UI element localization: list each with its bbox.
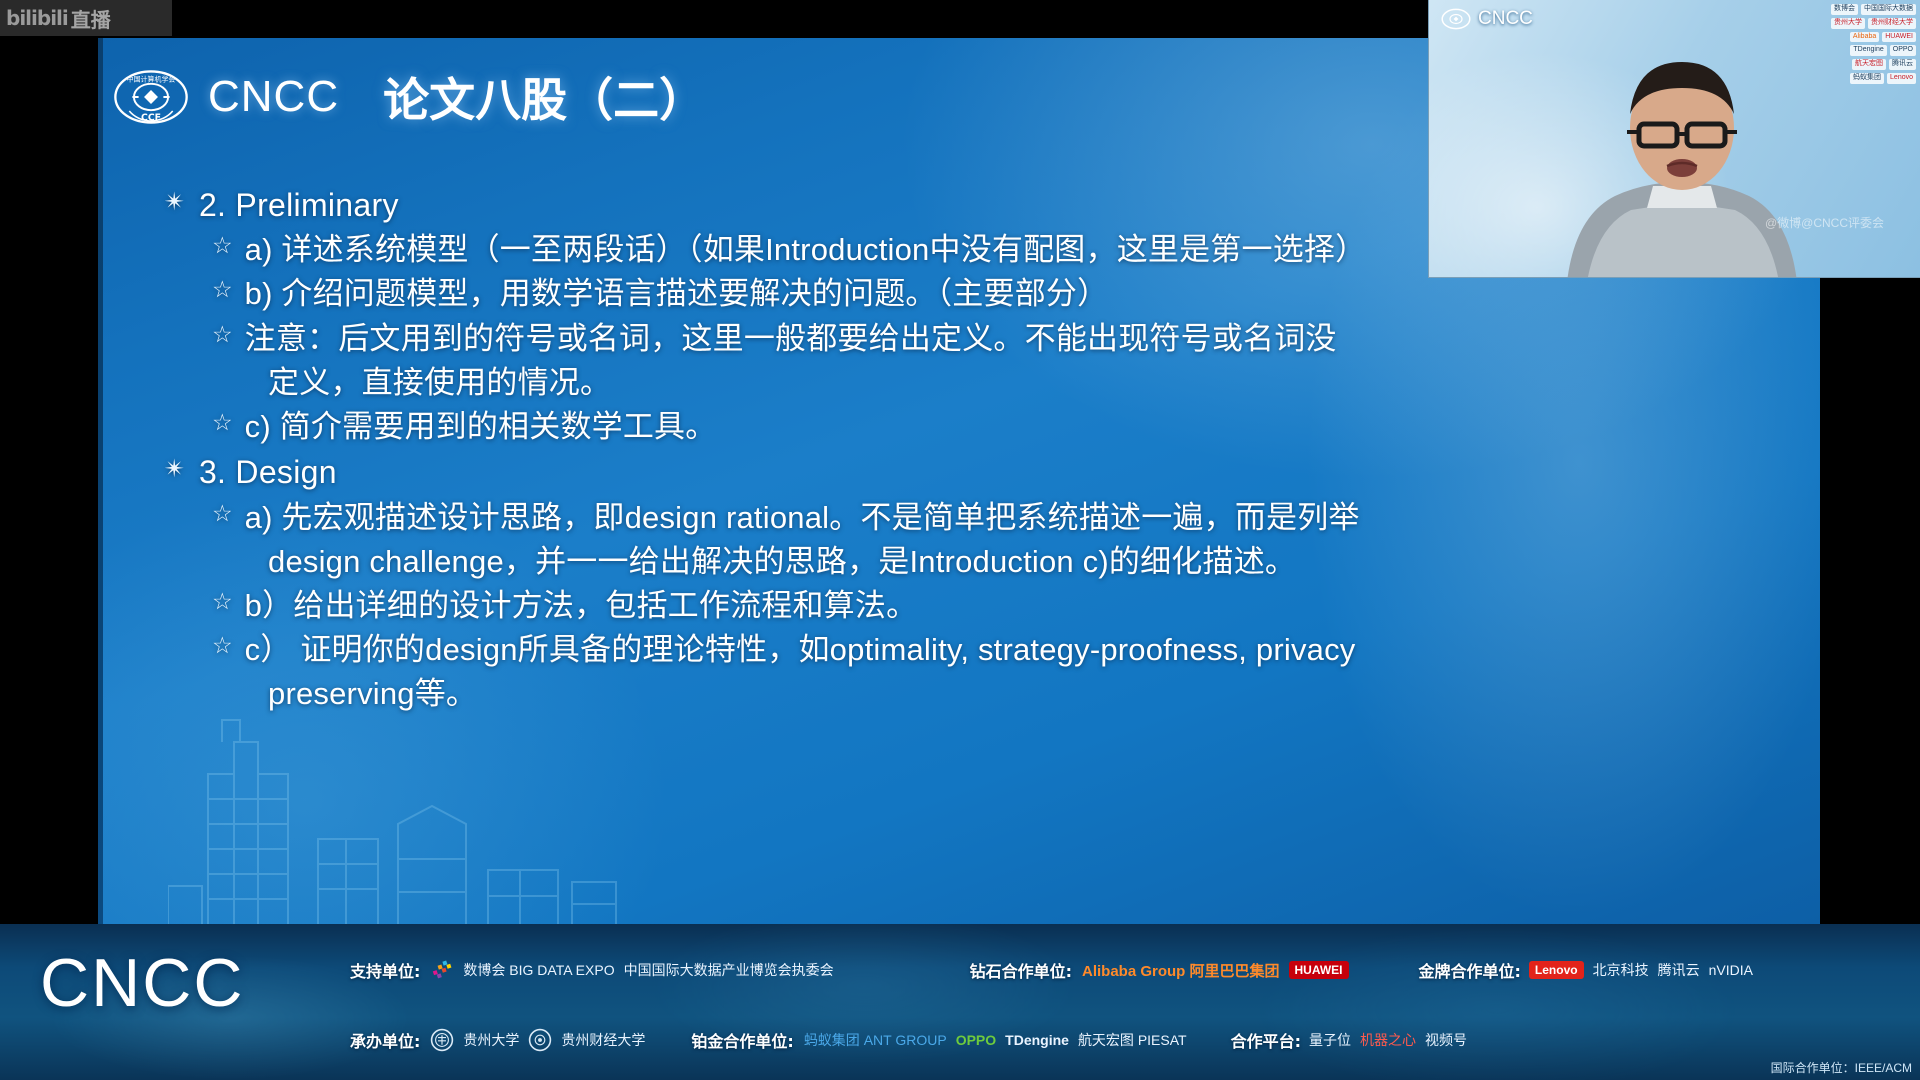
star-bullet-icon: ☆	[212, 497, 233, 530]
footer-label: 铂金合作单位:	[691, 1028, 793, 1052]
star-bullet-icon: ☆	[212, 585, 233, 618]
list-item-text: b）给出详细的设计方法，包括工作流程和算法。	[245, 585, 918, 626]
list-item: ☆ 注意：后文用到的符号或名词，这里一般都要给出定义。不能出现符号或名词没	[212, 318, 1802, 359]
list-item-continuation: preserving等。	[268, 673, 1802, 714]
footer-label: 支持单位:	[350, 958, 420, 982]
footer-group: Alibaba Group 阿里巴巴集团 HUAWEI	[1082, 960, 1349, 981]
footer-brand-cncc: CNCC	[40, 944, 244, 1022]
list-item-continuation: design challenge，并一一给出解决的思路，是Introductio…	[268, 541, 1802, 582]
slide-left-edge	[98, 38, 103, 924]
sponsor-chip: 贵州财经大学	[1868, 18, 1916, 29]
sponsor-chip: 腾讯云	[1889, 59, 1916, 70]
footer-group: 数博会 BIG DATA EXPO 中国国际大数据产业博览会执委会	[430, 958, 833, 982]
footer-sponsor-item: nVIDIA	[1709, 962, 1753, 978]
footer-sponsor-item: HUAWEI	[1289, 961, 1349, 979]
footer-group: 蚂蚁集团 ANT GROUP OPPO TDengine 航天宏图 PIESAT	[804, 1030, 1187, 1050]
star-bullet-icon: ☆	[212, 629, 233, 662]
list-item-text: 定义，直接使用的情况。	[268, 362, 611, 403]
webcam-video-overlay[interactable]: CNCC 数博会 中国国际大数据 贵州大学 贵州财经大学	[1428, 0, 1920, 278]
webcam-brand-label: CNCC	[1478, 8, 1533, 30]
footer-group: 贵州大学 贵州财经大学	[430, 1028, 645, 1052]
footer-sponsor-item: Lenovo	[1529, 961, 1584, 979]
slide-brand-cncc: CNCC	[208, 72, 339, 122]
sponsor-row: Alibaba HUAWEI	[1792, 32, 1916, 43]
list-item-text: 注意：后文用到的符号或名词，这里一般都要给出定义。不能出现符号或名词没	[245, 318, 1337, 359]
sponsor-chip: 数博会	[1831, 4, 1858, 15]
list-item: ☆ c) 简介需要用到的相关数学工具。	[212, 406, 1802, 447]
footer-sponsor-item: 视频号	[1425, 1030, 1467, 1050]
list-item-text: c） 证明你的design所具备的理论特性，如optimality, strat…	[245, 629, 1356, 670]
block-heading: ✴ 3. Design	[164, 451, 1802, 493]
footer-sponsor-item: Alibaba Group 阿里巴巴集团	[1082, 960, 1280, 981]
footer-sponsor-item: 数博会 BIG DATA EXPO	[463, 960, 614, 980]
bilibili-watermark: bilibili 直播	[0, 0, 172, 36]
sponsor-chip: TDengine	[1850, 45, 1886, 56]
footer-sponsor-item: 蚂蚁集团 ANT GROUP	[804, 1030, 947, 1050]
slide-header: 中国计算机学会 CCF CNCC 论文八股（二）	[112, 64, 705, 130]
list-item-text: design challenge，并一一给出解决的思路，是Introductio…	[268, 541, 1296, 582]
heading-text: 3. Design	[199, 451, 337, 493]
footer-sponsor-item: 航天宏图 PIESAT	[1078, 1030, 1187, 1050]
sponsor-chip: 中国国际大数据	[1861, 4, 1916, 15]
ccf-logo-icon: 中国计算机学会 CCF	[112, 66, 190, 128]
footer-international-note: 国际合作单位：IEEE/ACM	[1771, 1059, 1912, 1076]
footer-sponsor-item: 量子位	[1309, 1030, 1351, 1050]
footer-sponsor-item: 机器之心	[1360, 1030, 1416, 1050]
list-item: ☆ a) 先宏观描述设计思路，即design rational。不是简单把系统描…	[212, 497, 1802, 538]
sponsor-row: TDengine OPPO	[1792, 45, 1916, 56]
footer-group: Lenovo 北京科技 腾讯云 nVIDIA	[1529, 960, 1753, 980]
stream-watermark-text: @微博@CNCC评委会	[1765, 214, 1884, 231]
livestream-stage: bilibili 直播 中	[0, 0, 1920, 1080]
footer-label: 承办单位:	[350, 1028, 420, 1052]
list-item: ☆ b) 介绍问题模型，用数学语言描述要解决的问题。（主要部分）	[212, 273, 1802, 314]
svg-text:CCF: CCF	[141, 112, 161, 123]
sponsor-chip: 航天宏图	[1852, 59, 1886, 70]
slide-block-design: ✴ 3. Design ☆ a) 先宏观描述设计思路，即design ratio…	[164, 451, 1802, 714]
footer-label: 合作平台:	[1231, 1028, 1301, 1052]
sponsor-row: 贵州大学 贵州财经大学	[1792, 18, 1916, 29]
sponsor-chip: HUAWEI	[1882, 32, 1916, 43]
sponsor-chip: Alibaba	[1850, 32, 1879, 43]
bilibili-logo: bilibili	[6, 6, 68, 30]
footer-row: 支持单位: 数博会 BIG DATA EXPO 中国国际大数据产业	[350, 936, 1914, 1004]
sponsor-row: 航天宏图 腾讯云	[1792, 59, 1916, 70]
star-bullet-icon: ☆	[212, 406, 233, 439]
footer-sponsor-item: 贵州大学	[463, 1030, 519, 1050]
bilibili-live-label: 直播	[71, 4, 111, 33]
list-item-continuation: 定义，直接使用的情况。	[268, 362, 1802, 403]
list-item: ☆ c） 证明你的design所具备的理论特性，如optimality, str…	[212, 629, 1802, 670]
university-seal-icon	[528, 1028, 552, 1052]
speaker-video-figure	[1557, 36, 1807, 278]
sponsor-chip: Lenovo	[1887, 73, 1916, 84]
footer-sponsor-grid: 支持单位: 数博会 BIG DATA EXPO 中国国际大数据产业	[350, 934, 1914, 1076]
ccf-logo-icon	[1441, 7, 1471, 31]
list-item-text: a) 先宏观描述设计思路，即design rational。不是简单把系统描述一…	[245, 497, 1360, 538]
list-item-text: c) 简介需要用到的相关数学工具。	[245, 406, 717, 447]
footer-sponsor-item: 中国国际大数据产业博览会执委会	[624, 960, 834, 980]
sponsor-chip: 贵州大学	[1831, 18, 1865, 29]
sponsor-chip: 蚂蚁集团	[1850, 73, 1884, 84]
sponsor-row: 数博会 中国国际大数据	[1792, 4, 1916, 15]
footer-row: 承办单位: 贵州大学 贵州财经大学 铂金合作单位:	[350, 1006, 1914, 1074]
sponsor-row: 蚂蚁集团 Lenovo	[1792, 73, 1916, 84]
list-item: ☆ b）给出详细的设计方法，包括工作流程和算法。	[212, 585, 1802, 626]
slide-title: 论文八股（二）	[383, 64, 705, 130]
star-bullet-icon: ☆	[212, 273, 233, 306]
svg-text:中国计算机学会: 中国计算机学会	[127, 75, 176, 84]
list-item-text: a) 详述系统模型（一至两段话）（如果Introduction中没有配图，这里是…	[245, 229, 1367, 270]
sponsor-chip: OPPO	[1890, 45, 1916, 56]
footer-group: 量子位 机器之心 视频号	[1309, 1030, 1467, 1050]
webcam-sponsor-strip: 数博会 中国国际大数据 贵州大学 贵州财经大学 Alibaba HUAWEI T…	[1792, 4, 1916, 84]
footer-sponsor-item: TDengine	[1005, 1032, 1069, 1048]
snowflake-bullet-icon: ✴	[164, 451, 185, 489]
webcam-cncc-brand: CNCC	[1441, 7, 1533, 31]
footer-sponsor-item: 北京科技	[1593, 960, 1649, 980]
footer-sponsor-item: 贵州财经大学	[561, 1030, 645, 1050]
list-item-text: preserving等。	[268, 673, 477, 714]
heading-text: 2. Preliminary	[199, 184, 399, 226]
list-item-text: b) 介绍问题模型，用数学语言描述要解决的问题。（主要部分）	[245, 273, 1109, 314]
footer-sponsor-item: OPPO	[956, 1032, 996, 1048]
footer-sponsor-item: 腾讯云	[1658, 960, 1700, 980]
footer-label: 钻石合作单位:	[970, 958, 1072, 982]
footer-label: 金牌合作单位:	[1419, 958, 1521, 982]
snowflake-bullet-icon: ✴	[164, 184, 185, 222]
university-seal-icon	[430, 1028, 454, 1052]
star-bullet-icon: ☆	[212, 229, 233, 262]
bigdata-expo-icon	[430, 958, 454, 982]
star-bullet-icon: ☆	[212, 318, 233, 351]
footer-sponsor-band: CNCC 支持单位: 数博会	[0, 924, 1920, 1080]
